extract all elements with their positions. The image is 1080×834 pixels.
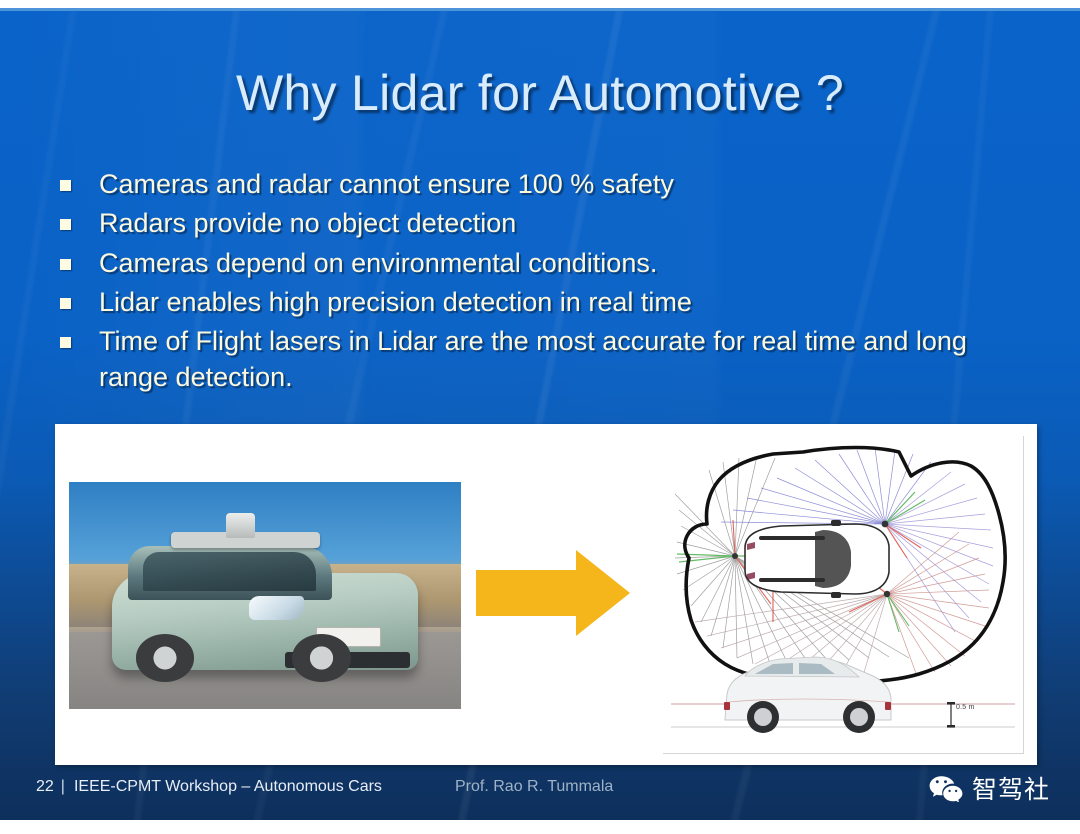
wechat-icon — [928, 774, 964, 802]
photo-headlight — [249, 596, 304, 621]
square-bullet-icon — [60, 219, 71, 230]
content-panel: 0.5 m — [55, 424, 1037, 765]
list-item: Lidar enables high precision detection i… — [60, 285, 1040, 320]
google-self-driving-prius-photo — [69, 482, 461, 709]
car-top-silhouette — [745, 520, 889, 598]
presentation-slide: Why Lidar for Automotive ? Cameras and r… — [0, 0, 1080, 834]
coverage-top-view — [675, 448, 1005, 683]
bullet-text: Time of Flight lasers in Lidar are the m… — [99, 324, 1040, 395]
bullet-text: Lidar enables high precision detection i… — [99, 285, 1040, 320]
list-item: Radars provide no object detection — [60, 206, 1040, 241]
square-bullet-icon — [60, 259, 71, 270]
brand-name: 智驾社 — [972, 770, 1050, 806]
list-item: Cameras depend on environmental conditio… — [60, 246, 1040, 281]
photo-front-wheel — [292, 634, 351, 682]
bullet-text: Cameras depend on environmental conditio… — [99, 246, 1040, 281]
footer-left-group: 22 | IEEE-CPMT Workshop – Autonomous Car… — [36, 778, 382, 796]
footer-author: Prof. Rao R. Tummala — [455, 778, 613, 796]
page-title: Why Lidar for Automotive ? — [0, 64, 1080, 122]
square-bullet-icon — [60, 298, 71, 309]
photo-rear-wheel — [136, 634, 195, 682]
yellow-right-arrow-icon — [470, 544, 635, 642]
square-bullet-icon — [60, 337, 71, 348]
footer-event-title: IEEE-CPMT Workshop – Autonomous Cars — [74, 778, 382, 796]
height-dimension-label: 0.5 m — [956, 704, 975, 711]
top-white-bar — [0, 0, 1080, 8]
lidar-coverage-diagram: 0.5 m — [663, 436, 1024, 754]
photo-roof-lidar-unit — [226, 513, 255, 538]
footer-separator: | — [61, 778, 65, 796]
slide-footer: 22 | IEEE-CPMT Workshop – Autonomous Car… — [0, 764, 1080, 820]
bullet-list: Cameras and radar cannot ensure 100 % sa… — [60, 167, 1040, 399]
wechat-brand-mark: 智驾社 — [928, 770, 1050, 806]
square-bullet-icon — [60, 180, 71, 191]
list-item: Cameras and radar cannot ensure 100 % sa… — [60, 167, 1040, 202]
photo-car-windshield — [143, 552, 315, 591]
bullet-text: Radars provide no object detection — [99, 206, 1040, 241]
car-side-view — [671, 657, 1015, 733]
bottom-white-bar — [0, 820, 1080, 834]
list-item: Time of Flight lasers in Lidar are the m… — [60, 324, 1040, 395]
bullet-text: Cameras and radar cannot ensure 100 % sa… — [99, 167, 1040, 202]
page-number: 22 — [36, 778, 54, 796]
